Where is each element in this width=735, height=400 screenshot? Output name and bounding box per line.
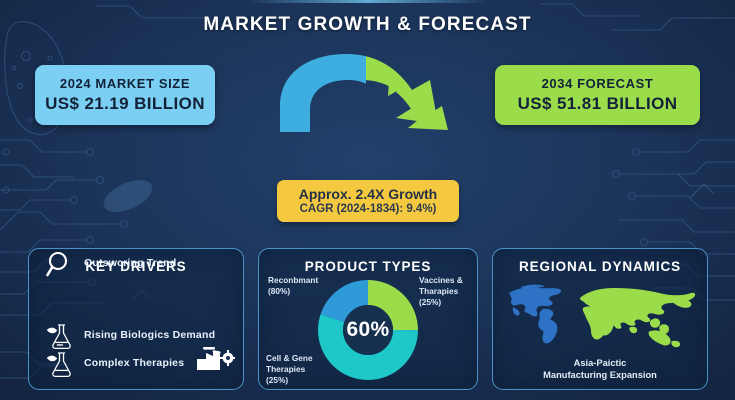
map-region-americas xyxy=(509,285,561,344)
driver-label-outsourcing: Outswcring Trend xyxy=(84,257,176,270)
page-title: MARKET GROWTH & FORECAST xyxy=(0,14,735,36)
driver-label-complex-therapies: Complex Therapies xyxy=(84,357,184,370)
donut-label-cell-gene: Cell & Gene Therapies (25%) xyxy=(266,353,338,385)
regional-dynamics-title: REGIONAL DYNAMICS xyxy=(493,259,707,274)
magnifier-icon xyxy=(45,249,75,279)
driver-item-outsourcing[interactable]: Outswcring Trend xyxy=(45,249,235,279)
product-types-title: PRODUCT TYPES xyxy=(259,259,477,274)
donut-label-vaccines: Vaccines & Tharapies (25%) xyxy=(419,275,477,307)
panel-product-types: PRODUCT TYPES 60% Reconbmant (80%) Vacci… xyxy=(258,248,478,390)
growth-multiple: Approx. 2.4X Growth xyxy=(299,186,437,202)
world-map xyxy=(503,279,697,351)
factory-gear-icon xyxy=(195,345,235,373)
forecast-label: 2034 FORECAST xyxy=(542,76,654,92)
market-size-card[interactable]: 2024 MARKET SIZE US$ 21.19 BILLION xyxy=(35,65,215,125)
market-size-value: US$ 21.19 BILLION xyxy=(45,93,205,114)
top-accent-glow xyxy=(248,0,488,3)
flask-leaf-icon xyxy=(45,349,75,379)
cagr-text: CAGR (2024-1834): 9.4%) xyxy=(300,203,437,217)
growth-arrow xyxy=(262,46,494,134)
donut-label-recombinant: Reconbmant (80%) xyxy=(268,275,338,297)
infographic-canvas: MARKET GROWTH & FORECAST 2024 MARKET SIZ… xyxy=(0,0,735,400)
regional-caption: Asia-Paictic Manufacturing Expansion xyxy=(493,357,707,381)
driver-label-biologics: Rising Biologics Demand xyxy=(84,329,215,342)
growth-badge[interactable]: Approx. 2.4X Growth CAGR (2024-1834): 9.… xyxy=(277,180,459,222)
panel-key-drivers: KEY DRIVERS Rising Biologics Demand xyxy=(28,248,244,390)
map-region-asia-pacific xyxy=(580,288,695,347)
panel-regional-dynamics: REGIONAL DYNAMICS xyxy=(492,248,708,390)
market-size-label: 2024 MARKET SIZE xyxy=(60,76,190,92)
flask-leaf-icon xyxy=(45,321,75,351)
forecast-value: US$ 51.81 BILLION xyxy=(518,93,678,114)
forecast-card[interactable]: 2034 FORECAST US$ 51.81 BILLION xyxy=(495,65,700,125)
